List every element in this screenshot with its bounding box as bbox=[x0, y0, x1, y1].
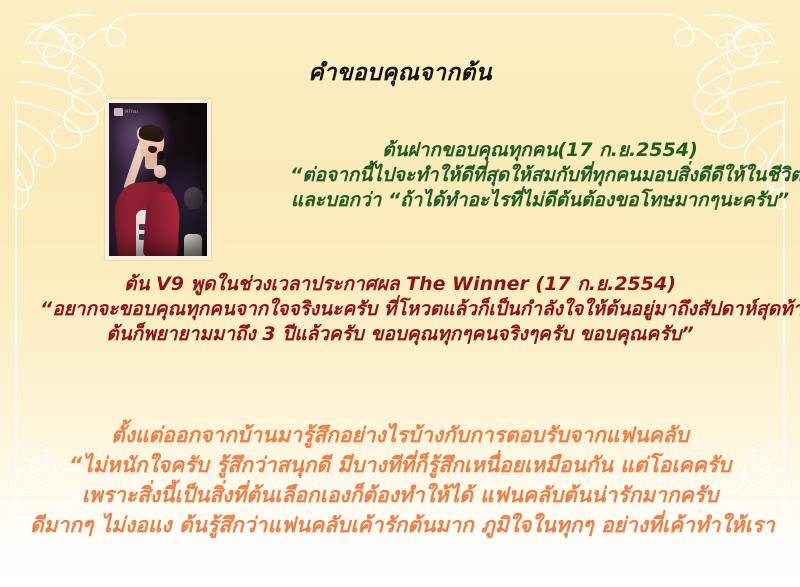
photo-watermark: MThai bbox=[114, 108, 138, 116]
performer-photo-frame: MThai bbox=[105, 99, 211, 260]
orange-line-3: เพราะสิ่งนี้เป็นสิ่งที่ต้นเลือกเองก็ต้อง… bbox=[30, 480, 770, 510]
orange-line-1: ตั้งแต่ออกจากบ้านมารู้สึกอย่างไรบ้างกับก… bbox=[30, 420, 770, 450]
green-message-block: ต้นฝากขอบคุณทุกคน(17 ก.ย.2554) “ต่อจากนี… bbox=[290, 138, 790, 213]
watermark-logo-icon bbox=[114, 108, 123, 116]
page-title: คำขอบคุณจากต้น bbox=[0, 55, 800, 91]
orange-line-4: ดีมากๆ ไม่งอแง ต้นรู้สึกว่าแฟนคลับเค้ารั… bbox=[30, 510, 770, 540]
red-line-1: ต้น V9 พูดในช่วงเวลาประกาศผล The Winner … bbox=[40, 272, 760, 297]
red-line-3: ต้นก็พยายามมาถึง 3 ปีแล้วครับ ขอบคุณทุกๆ… bbox=[40, 322, 760, 347]
green-line-1: ต้นฝากขอบคุณทุกคน(17 ก.ย.2554) bbox=[290, 138, 790, 163]
thank-you-card: MThai คำขอบคุณจากต้น ต้นฝากขอบคุณทุกคน(1… bbox=[0, 0, 800, 587]
orange-line-2: “ไม่หนักใจครับ รู้สึกว่าสนุกดี มีบางทีที… bbox=[30, 450, 770, 480]
green-line-2: “ต่อจากนี้ไปจะทำให้ดีที่สุดให้สมกับที่ทุ… bbox=[290, 163, 790, 188]
performer-photo: MThai bbox=[109, 103, 207, 256]
green-line-3: และบอกว่า “ถ้าได้ทำอะไรที่ไม่ดีต้นต้องขอ… bbox=[290, 188, 790, 213]
orange-message-block: ตั้งแต่ออกจากบ้านมารู้สึกอย่างไรบ้างกับก… bbox=[30, 420, 770, 540]
watermark-label: MThai bbox=[125, 110, 138, 114]
photo-vignette bbox=[109, 103, 207, 256]
red-line-2: “อยากจะขอบคุณทุกคนจากใจจริงนะครับ ที่โหว… bbox=[40, 297, 760, 322]
red-message-block: ต้น V9 พูดในช่วงเวลาประกาศผล The Winner … bbox=[40, 272, 760, 347]
